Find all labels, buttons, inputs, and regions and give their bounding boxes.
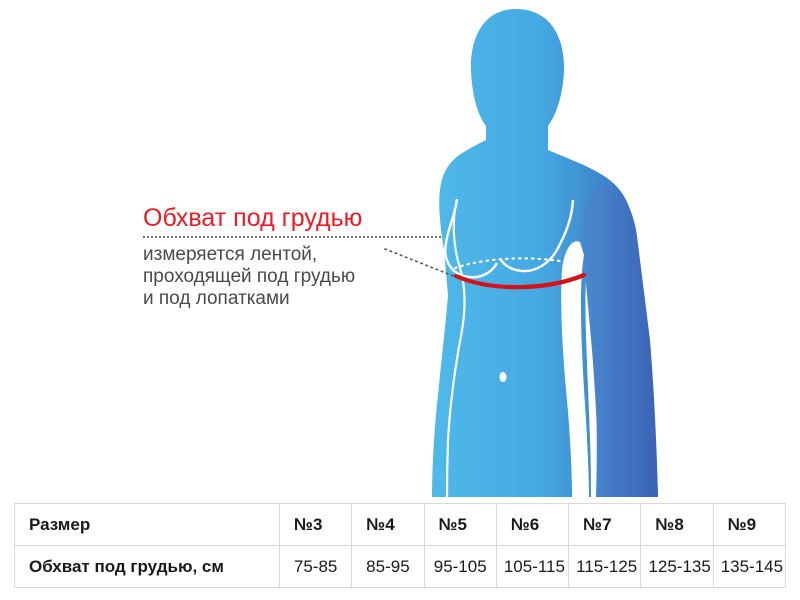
row-label-underbust: Обхват под грудью, см [15, 546, 280, 588]
range-cell-6: 135-145 [713, 546, 785, 588]
table-row-sizes: Размер №3 №4 №5 №6 №7 №8 №9 [15, 504, 786, 546]
range-cell-1: 85-95 [352, 546, 424, 588]
range-cell-0: 75-85 [280, 546, 352, 588]
size-cell-2: №5 [424, 504, 496, 546]
annotation-block: Обхват под грудью измеряется лентой, про… [143, 203, 443, 310]
size-cell-1: №4 [352, 504, 424, 546]
figure-stage: Обхват под грудью измеряется лентой, про… [0, 0, 800, 500]
size-chart-table: Размер №3 №4 №5 №6 №7 №8 №9 Обхват под г… [14, 503, 786, 588]
table-row-ranges: Обхват под грудью, см 75-85 85-95 95-105… [15, 546, 786, 588]
size-cell-4: №7 [569, 504, 641, 546]
annotation-description: измеряется лентой, проходящей под грудью… [143, 244, 443, 310]
navel-mark [499, 372, 506, 382]
row-label-size: Размер [15, 504, 280, 546]
right-arm-shape [582, 182, 658, 497]
size-cell-5: №8 [641, 504, 713, 546]
annotation-title: Обхват под грудью [143, 203, 443, 233]
range-cell-2: 95-105 [424, 546, 496, 588]
size-cell-3: №6 [496, 504, 568, 546]
range-cell-4: 115-125 [569, 546, 641, 588]
size-cell-0: №3 [280, 504, 352, 546]
annotation-divider [143, 236, 441, 238]
range-cell-5: 125-135 [641, 546, 713, 588]
range-cell-3: 105-115 [496, 546, 568, 588]
size-cell-6: №9 [713, 504, 785, 546]
